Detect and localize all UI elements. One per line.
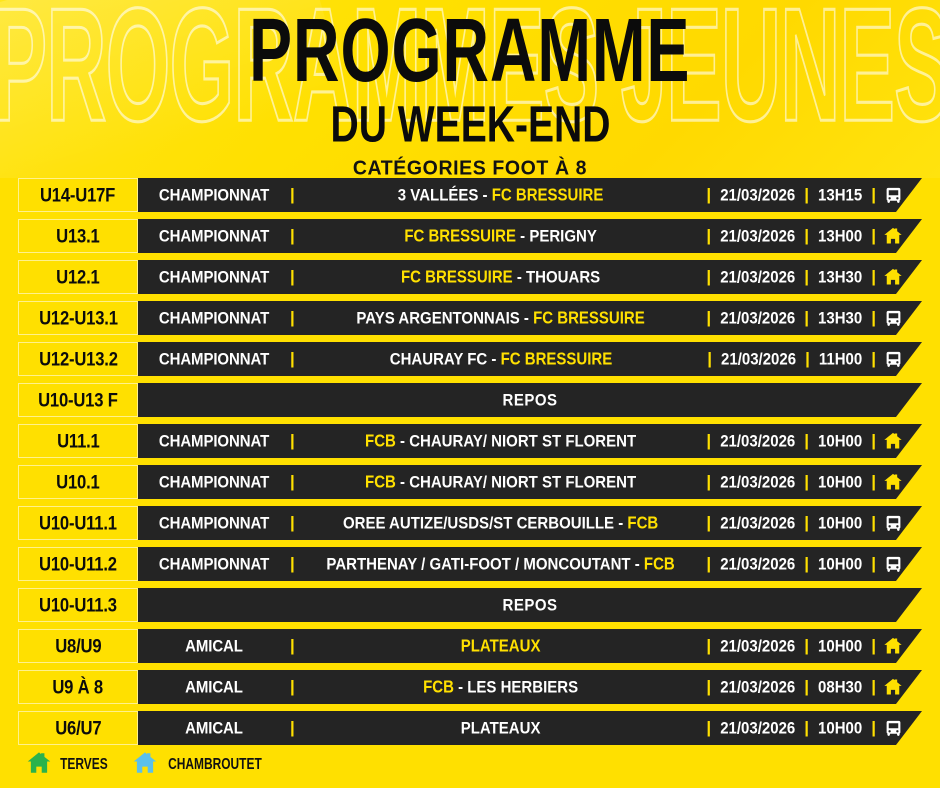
match-time: 13H15 [809, 186, 871, 204]
match-date: 21/03/2026 [711, 637, 804, 655]
competition-text: CHAMPIONNAT [159, 186, 269, 204]
schedule-row: U12-U13.1CHAMPIONNAT|PAYS ARGENTONNAIS -… [0, 301, 940, 342]
category-badge-label: U12-U13.2 [39, 347, 118, 371]
match-label: CHAURAY FC - FC BRESSUIRE [295, 351, 707, 368]
separator-pipe: | [871, 636, 876, 656]
category-badge: U14-U17F [18, 178, 138, 212]
match-text: PARTHENAY / GATI-FOOT / MONCOUTANT - FCB [326, 555, 674, 573]
match-time: 11H00 [810, 350, 871, 368]
match-time: 10H00 [809, 473, 871, 491]
page-subtitle: DU WEEK-END [330, 99, 610, 150]
match-meta: |21/03/2026|10H00| [706, 554, 880, 574]
repos-label: REPOS [502, 596, 557, 614]
match-text: FC BRESSUIRE - THOUARS [401, 268, 600, 286]
match-time: 08H30 [809, 678, 871, 696]
match-date: 21/03/2026 [711, 514, 804, 532]
match-meta: |21/03/2026|10H00| [706, 431, 880, 451]
header-banner: PROGRAMMES JEUNES PROGRAMME DU WEEK-END … [0, 0, 940, 178]
schedule-row: U11.1CHAMPIONNAT|FCB - CHAURAY/ NIORT ST… [0, 424, 940, 465]
page-title: PROGRAMME [249, 8, 690, 93]
home-club-name: FCB [365, 431, 396, 451]
category-badge: U10-U11.1 [18, 506, 138, 540]
competition-text: CHAMPIONNAT [159, 473, 269, 491]
separator-pipe: | [871, 554, 876, 574]
home-club-name: FC BRESSUIRE [501, 349, 613, 369]
schedule-list: U14-U17FCHAMPIONNAT|3 VALLÉES - FC BRESS… [0, 178, 940, 752]
match-text: CHAURAY FC - FC BRESSUIRE [390, 350, 613, 368]
separator-pipe: | [871, 718, 876, 738]
schedule-bar: CHAMPIONNAT|FC BRESSUIRE - PERIGNY|21/03… [138, 219, 922, 253]
schedule-bar: AMICAL|PLATEAUX|21/03/2026|10H00| [138, 711, 922, 745]
match-label: FCB - CHAURAY/ NIORT ST FLORENT [295, 474, 707, 491]
category-badge: U10.1 [18, 465, 138, 499]
category-badge: U10-U13 F [18, 383, 138, 417]
home-icon [880, 267, 922, 287]
home-club-name: FC BRESSUIRE [533, 308, 645, 328]
schedule-row: U9 À 8AMICAL|FCB - LES HERBIERS|21/03/20… [0, 670, 940, 711]
home-icon [880, 677, 922, 697]
competition-label: CHAMPIONNAT [138, 433, 290, 450]
category-badge: U12-U13.1 [18, 301, 138, 335]
match-date: 21/03/2026 [711, 473, 804, 491]
competition-text: CHAMPIONNAT [159, 514, 269, 532]
home-icon [132, 750, 158, 776]
match-date: 21/03/2026 [711, 186, 804, 204]
schedule-row: U10-U11.1CHAMPIONNAT|OREE AUTIZE/USDS/ST… [0, 506, 940, 547]
match-date: 21/03/2026 [711, 719, 804, 737]
match-meta: |21/03/2026|10H00| [706, 472, 880, 492]
competition-label: CHAMPIONNAT [138, 228, 290, 245]
page-category: CATÉGORIES FOOT À 8 [0, 156, 940, 178]
separator-pipe: | [871, 431, 876, 451]
category-badge-label: U8/U9 [55, 634, 101, 658]
home-club-name: FC BRESSUIRE [404, 226, 516, 246]
home-icon [880, 226, 922, 246]
home-club-name: FCB [644, 554, 675, 574]
schedule-row-inner: U9 À 8AMICAL|FCB - LES HERBIERS|21/03/20… [18, 670, 922, 704]
match-label: 3 VALLÉES - FC BRESSUIRE [295, 187, 707, 204]
category-badge-label: U12-U13.1 [39, 306, 118, 330]
match-time: 13H30 [809, 309, 871, 327]
category-badge: U10-U11.2 [18, 547, 138, 581]
schedule-row-inner: U14-U17FCHAMPIONNAT|3 VALLÉES - FC BRESS… [18, 178, 922, 212]
match-label: PARTHENAY / GATI-FOOT / MONCOUTANT - FCB [295, 556, 707, 573]
match-text: FCB - LES HERBIERS [423, 678, 578, 696]
separator-pipe: | [871, 226, 876, 246]
legend-label: TERVES [60, 754, 108, 772]
match-label: FCB - LES HERBIERS [295, 679, 707, 696]
legend-item: CHAMBROUTET [132, 750, 266, 776]
match-text: PLATEAUX [461, 719, 541, 737]
bus-icon [880, 350, 922, 369]
schedule-row: U8/U9AMICAL|PLATEAUX|21/03/2026|10H00| [0, 629, 940, 670]
schedule-row: U10-U13 FREPOS [0, 383, 940, 424]
match-meta: |21/03/2026|10H00| [706, 636, 880, 656]
schedule-bar: CHAMPIONNAT|FC BRESSUIRE - THOUARS|21/03… [138, 260, 922, 294]
match-time: 10H00 [809, 637, 871, 655]
match-text: FC BRESSUIRE - PERIGNY [404, 227, 597, 245]
competition-text: CHAMPIONNAT [159, 268, 269, 286]
match-meta: |21/03/2026|11H00| [707, 349, 880, 369]
schedule-row-inner: U10-U11.3REPOS [18, 588, 922, 622]
bus-icon [880, 514, 922, 533]
separator-pipe: | [871, 185, 876, 205]
category-badge: U12-U13.2 [18, 342, 138, 376]
match-text: 3 VALLÉES - FC BRESSUIRE [398, 186, 604, 204]
schedule-bar: REPOS [138, 588, 922, 622]
category-badge: U8/U9 [18, 629, 138, 663]
schedule-row: U10.1CHAMPIONNAT|FCB - CHAURAY/ NIORT ST… [0, 465, 940, 506]
match-meta: |21/03/2026|10H00| [706, 718, 880, 738]
competition-label: CHAMPIONNAT [138, 474, 290, 491]
match-meta: |21/03/2026|08H30| [706, 677, 880, 697]
match-label: FCB - CHAURAY/ NIORT ST FLORENT [295, 433, 707, 450]
competition-label: CHAMPIONNAT [138, 556, 290, 573]
match-date: 21/03/2026 [711, 227, 804, 245]
match-date: 21/03/2026 [711, 268, 804, 286]
match-label: PLATEAUX [295, 638, 707, 655]
competition-text: AMICAL [185, 719, 243, 737]
competition-label: CHAMPIONNAT [138, 269, 290, 286]
legend: TERVESCHAMBROUTET [26, 750, 266, 776]
schedule-row-inner: U10.1CHAMPIONNAT|FCB - CHAURAY/ NIORT ST… [18, 465, 922, 499]
bus-icon [880, 309, 922, 328]
legend-item: TERVES [26, 750, 110, 776]
home-icon [880, 472, 922, 492]
match-text: PLATEAUX [461, 637, 541, 655]
match-text: OREE AUTIZE/USDS/ST CERBOUILLE - FCB [343, 514, 658, 532]
schedule-bar: AMICAL|FCB - LES HERBIERS|21/03/2026|08H… [138, 670, 922, 704]
match-time: 13H30 [809, 268, 871, 286]
schedule-row: U12.1CHAMPIONNAT|FC BRESSUIRE - THOUARS|… [0, 260, 940, 301]
schedule-row-inner: U11.1CHAMPIONNAT|FCB - CHAURAY/ NIORT ST… [18, 424, 922, 458]
category-badge: U9 À 8 [18, 670, 138, 704]
match-text: FCB - CHAURAY/ NIORT ST FLORENT [365, 432, 636, 450]
home-icon [880, 431, 922, 451]
schedule-row-inner: U12-U13.1CHAMPIONNAT|PAYS ARGENTONNAIS -… [18, 301, 922, 335]
schedule-row-inner: U12-U13.2CHAMPIONNAT|CHAURAY FC - FC BRE… [18, 342, 922, 376]
competition-text: AMICAL [185, 678, 243, 696]
category-badge-label: U6/U7 [55, 716, 101, 740]
home-club-name: FCB [423, 677, 454, 697]
competition-label: CHAMPIONNAT [138, 515, 290, 532]
schedule-bar: CHAMPIONNAT|OREE AUTIZE/USDS/ST CERBOUIL… [138, 506, 922, 540]
bus-icon [880, 186, 922, 205]
home-icon [26, 750, 52, 776]
home-club-name: PLATEAUX [461, 636, 541, 656]
match-meta: |21/03/2026|10H00| [706, 513, 880, 533]
competition-label: AMICAL [138, 638, 290, 655]
competition-label: CHAMPIONNAT [138, 351, 290, 368]
match-label: PLATEAUX [295, 720, 707, 737]
category-badge-label: U10-U11.2 [39, 552, 117, 576]
match-label: FC BRESSUIRE - THOUARS [295, 269, 707, 286]
schedule-row-inner: U10-U11.1CHAMPIONNAT|OREE AUTIZE/USDS/ST… [18, 506, 922, 540]
schedule-bar: CHAMPIONNAT|3 VALLÉES - FC BRESSUIRE|21/… [138, 178, 922, 212]
schedule-row: U10-U11.3REPOS [0, 588, 940, 629]
schedule-bar: CHAMPIONNAT|FCB - CHAURAY/ NIORT ST FLOR… [138, 424, 922, 458]
competition-label: AMICAL [138, 679, 290, 696]
match-date: 21/03/2026 [712, 350, 805, 368]
match-date: 21/03/2026 [711, 678, 804, 696]
schedule-row: U12-U13.2CHAMPIONNAT|CHAURAY FC - FC BRE… [0, 342, 940, 383]
schedule-row-inner: U10-U11.2CHAMPIONNAT|PARTHENAY / GATI-FO… [18, 547, 922, 581]
match-meta: |21/03/2026|13H30| [706, 267, 880, 287]
category-badge-label: U10-U11.3 [39, 593, 117, 617]
category-badge: U13.1 [18, 219, 138, 253]
match-meta: |21/03/2026|13H30| [706, 308, 880, 328]
match-date: 21/03/2026 [711, 309, 804, 327]
home-club-name: FC BRESSUIRE [401, 267, 513, 287]
category-badge-label: U11.1 [57, 429, 99, 453]
home-icon [880, 636, 922, 656]
separator-pipe: | [871, 472, 876, 492]
bus-icon [880, 719, 922, 738]
separator-pipe: | [871, 513, 876, 533]
competition-text: CHAMPIONNAT [159, 350, 269, 368]
competition-text: CHAMPIONNAT [159, 432, 269, 450]
schedule-bar: AMICAL|PLATEAUX|21/03/2026|10H00| [138, 629, 922, 663]
match-label: FC BRESSUIRE - PERIGNY [295, 228, 707, 245]
schedule-bar: CHAMPIONNAT|PARTHENAY / GATI-FOOT / MONC… [138, 547, 922, 581]
schedule-bar: REPOS [138, 383, 922, 417]
home-club-name: FCB [627, 513, 658, 533]
repos-label: REPOS [502, 391, 557, 409]
schedule-row-inner: U13.1CHAMPIONNAT|FC BRESSUIRE - PERIGNY|… [18, 219, 922, 253]
category-badge-label: U10.1 [56, 470, 99, 494]
competition-text: CHAMPIONNAT [159, 227, 269, 245]
category-badge: U11.1 [18, 424, 138, 458]
competition-text: CHAMPIONNAT [159, 555, 269, 573]
header-titles: PROGRAMME DU WEEK-END CATÉGORIES FOOT À … [0, 0, 940, 178]
schedule-bar: CHAMPIONNAT|CHAURAY FC - FC BRESSUIRE|21… [138, 342, 922, 376]
category-badge: U12.1 [18, 260, 138, 294]
match-meta: |21/03/2026|13H00| [706, 226, 880, 246]
match-time: 10H00 [809, 555, 871, 573]
competition-text: CHAMPIONNAT [159, 309, 269, 327]
schedule-row: U14-U17FCHAMPIONNAT|3 VALLÉES - FC BRESS… [0, 178, 940, 219]
match-date: 21/03/2026 [711, 555, 804, 573]
category-badge-label: U10-U13 F [38, 388, 118, 412]
home-club-name: FCB [365, 472, 396, 492]
category-badge-label: U10-U11.1 [39, 511, 117, 535]
match-label: PAYS ARGENTONNAIS - FC BRESSUIRE [295, 310, 707, 327]
schedule-row: U13.1CHAMPIONNAT|FC BRESSUIRE - PERIGNY|… [0, 219, 940, 260]
category-badge-label: U9 À 8 [53, 675, 104, 699]
category-badge-label: U12.1 [56, 265, 99, 289]
match-text: FCB - CHAURAY/ NIORT ST FLORENT [365, 473, 636, 491]
schedule-row: U6/U7AMICAL|PLATEAUX|21/03/2026|10H00| [0, 711, 940, 752]
separator-pipe: | [871, 677, 876, 697]
separator-pipe: | [871, 267, 876, 287]
schedule-row-inner: U8/U9AMICAL|PLATEAUX|21/03/2026|10H00| [18, 629, 922, 663]
category-badge-label: U14-U17F [40, 183, 115, 207]
legend-label: CHAMBROUTET [168, 754, 262, 772]
home-club-name: FC BRESSUIRE [492, 185, 604, 205]
competition-label: CHAMPIONNAT [138, 187, 290, 204]
category-badge-label: U13.1 [56, 224, 99, 248]
match-text: PAYS ARGENTONNAIS - FC BRESSUIRE [356, 309, 644, 327]
match-label: OREE AUTIZE/USDS/ST CERBOUILLE - FCB [295, 515, 707, 532]
category-badge: U10-U11.3 [18, 588, 138, 622]
schedule-row-inner: U12.1CHAMPIONNAT|FC BRESSUIRE - THOUARS|… [18, 260, 922, 294]
schedule-bar: CHAMPIONNAT|FCB - CHAURAY/ NIORT ST FLOR… [138, 465, 922, 499]
schedule-row: U10-U11.2CHAMPIONNAT|PARTHENAY / GATI-FO… [0, 547, 940, 588]
competition-text: AMICAL [185, 637, 243, 655]
match-meta: |21/03/2026|13H15| [706, 185, 880, 205]
separator-pipe: | [871, 349, 876, 369]
schedule-row-inner: U10-U13 FREPOS [18, 383, 922, 417]
match-time: 10H00 [809, 719, 871, 737]
schedule-bar: CHAMPIONNAT|PAYS ARGENTONNAIS - FC BRESS… [138, 301, 922, 335]
separator-pipe: | [871, 308, 876, 328]
match-time: 10H00 [809, 432, 871, 450]
match-time: 13H00 [809, 227, 871, 245]
match-date: 21/03/2026 [711, 432, 804, 450]
schedule-row-inner: U6/U7AMICAL|PLATEAUX|21/03/2026|10H00| [18, 711, 922, 745]
competition-label: CHAMPIONNAT [138, 310, 290, 327]
match-time: 10H00 [809, 514, 871, 532]
bus-icon [880, 555, 922, 574]
competition-label: AMICAL [138, 720, 290, 737]
category-badge: U6/U7 [18, 711, 138, 745]
